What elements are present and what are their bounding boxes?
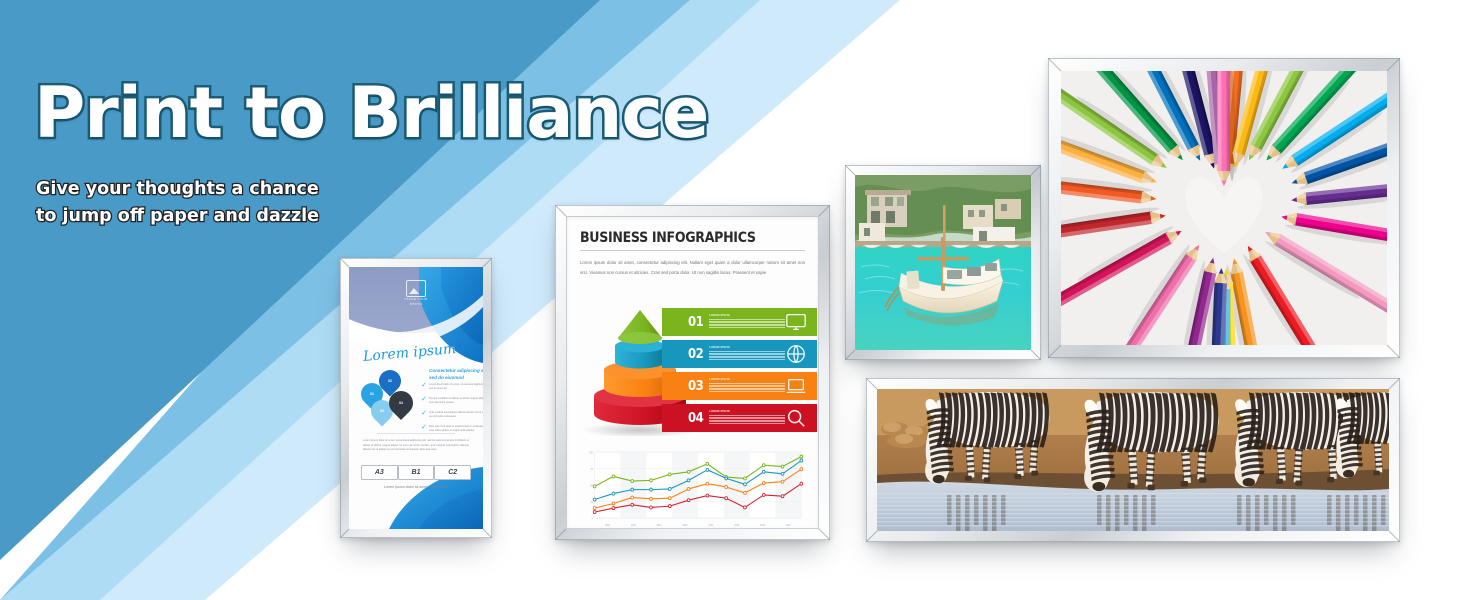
place-photo-label: PLACE YOUR PHOTO: [349, 297, 483, 306]
page-subtitle: Give your thoughts a chance to jump off …: [36, 176, 319, 230]
brochure-artwork: PLACE YOUR PHOTO Lorem ipsum 01 02 03 04…: [349, 267, 483, 529]
step-bar-02[interactable]: 02 LOREM IPSUM: [662, 340, 817, 368]
zebras-waterhole-illustration: [877, 389, 1389, 531]
step-04-number: 04: [688, 411, 703, 426]
brochure-size-buttons: A3 B1 C2: [361, 465, 471, 480]
magnifier-icon: [785, 407, 807, 429]
frame-colored-pencils-photo[interactable]: [1048, 58, 1400, 358]
step-02-text-lines: [709, 351, 785, 361]
step-01-number: 01: [688, 315, 703, 330]
svg-text:100: 100: [589, 452, 593, 454]
colored-pencils-heart-illustration: [1061, 71, 1387, 345]
check-icon-2: ✓: [421, 397, 427, 403]
droplet-4: 04: [384, 386, 418, 420]
poster-mat: BUSINESS INFOGRAPHICS Lorem ipsum dolor …: [566, 216, 819, 529]
infographics-divider: [580, 250, 805, 251]
size-button-a3[interactable]: A3: [361, 465, 398, 480]
brochure-check-item-4: ✓ Duis aute irure dolor in reprehenderit…: [429, 425, 483, 433]
frame-blue-brochure-poster[interactable]: PLACE YOUR PHOTO Lorem ipsum 01 02 03 04…: [340, 258, 492, 538]
step-03-number: 03: [688, 379, 703, 394]
brochure-check-item-2: ✓ Tempor incididunt ut labore et dolore …: [429, 397, 483, 405]
check-icon-1: ✓: [421, 383, 427, 389]
svg-text:0: 0: [592, 518, 594, 520]
brochure-check-item-3: ✓ Quis nostrud exercitation ullamco labo…: [429, 411, 483, 419]
photo-mat: [855, 175, 1031, 350]
svg-text:2013: 2013: [683, 525, 689, 527]
svg-text:2012: 2012: [657, 525, 663, 527]
brochure-footer-text: Lorem ipsum dolor sit amet, consectetur: [349, 485, 483, 489]
photo-mat: [877, 389, 1389, 531]
size-button-b1[interactable]: B1: [398, 465, 435, 480]
laptop-icon: [785, 375, 807, 397]
poster-mat: PLACE YOUR PHOTO Lorem ipsum 01 02 03 04…: [349, 267, 483, 529]
step-02-number: 02: [688, 347, 703, 362]
svg-text:2011: 2011: [631, 525, 636, 527]
brochure-section-heading: Consectetur adipiscing elit, sed do eius…: [429, 367, 483, 382]
svg-text:75: 75: [590, 469, 593, 471]
step-bar-03[interactable]: 03 LOREM IPSUM: [662, 372, 817, 400]
step-03-title: LOREM IPSUM: [709, 378, 785, 381]
photo-mat: [1061, 71, 1387, 345]
print-to-brilliance-banner: Print to Brilliance Give your thoughts a…: [0, 0, 1464, 600]
step-04-text-lines: [709, 415, 785, 425]
page-title: Print to Brilliance: [34, 78, 708, 148]
brochure-check-item-1: ✓ Lorem ipsum dolor sit amet, consectetu…: [429, 383, 483, 391]
subtitle-line-1: Give your thoughts a chance: [36, 176, 319, 203]
svg-text:2014: 2014: [708, 525, 714, 527]
harbor-boat-illustration: [855, 175, 1031, 350]
size-button-c2[interactable]: C2: [434, 465, 471, 480]
monitor-icon: [785, 311, 807, 333]
place-photo-icon: [406, 280, 426, 297]
svg-text:2016: 2016: [760, 525, 766, 527]
step-02-title: LOREM IPSUM: [709, 346, 785, 349]
globe-icon: [785, 343, 807, 365]
infographic-step-bars: 01 LOREM IPSUM: [662, 308, 817, 436]
brochure-body-text: Lorem ipsum dolor sit amet, consectetur …: [363, 439, 469, 453]
svg-text:2015: 2015: [734, 525, 740, 527]
pyramid-diagram: 01 LOREM IPSUM: [574, 308, 817, 436]
infographics-title: BUSINESS INFOGRAPHICS: [580, 230, 805, 246]
droplet-2-label: 02: [379, 370, 401, 392]
check-icon-3: ✓: [421, 411, 427, 417]
line-chart-svg: 0255075100201020112012201320142015201620…: [580, 448, 805, 529]
step-01-title: LOREM IPSUM: [709, 314, 785, 317]
infographics-intro-text: Lorem ipsum dolor sit amet, consectetur …: [580, 258, 805, 277]
step-bar-01[interactable]: 01 LOREM IPSUM: [662, 308, 817, 336]
infographics-artwork: BUSINESS INFOGRAPHICS Lorem ipsum dolor …: [580, 230, 805, 519]
svg-text:25: 25: [590, 502, 593, 504]
step-04-title: LOREM IPSUM: [709, 410, 785, 413]
frame-zebras-photo[interactable]: [866, 378, 1400, 542]
check-icon-4: ✓: [421, 425, 427, 431]
frame-business-infographics-poster[interactable]: BUSINESS INFOGRAPHICS Lorem ipsum dolor …: [555, 205, 830, 540]
step-03-text-lines: [709, 383, 785, 393]
svg-text:2017: 2017: [786, 525, 792, 527]
subtitle-line-2: to jump off paper and dazzle: [36, 203, 319, 230]
droplet-4-label: 04: [389, 391, 413, 415]
svg-text:2010: 2010: [605, 525, 611, 527]
step-01-text-lines: [709, 319, 785, 329]
step-bar-04[interactable]: 04 LOREM IPSUM: [662, 404, 817, 432]
line-chart: 0255075100201020112012201320142015201620…: [580, 448, 805, 529]
brochure-divider: [377, 433, 455, 434]
frame-harbor-boat-photo[interactable]: [845, 165, 1041, 360]
